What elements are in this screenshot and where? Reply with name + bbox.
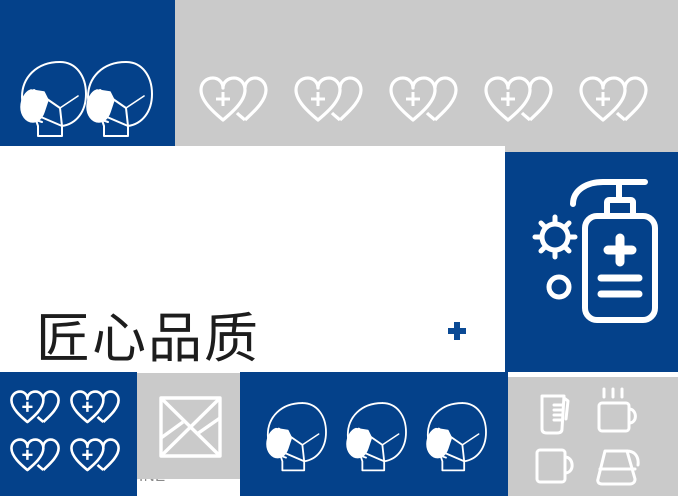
left-edge-accent: [0, 372, 6, 496]
masked-face-icon: [420, 394, 492, 474]
crossed-box-icon: [159, 396, 222, 458]
double-heart-plus-icon: [484, 76, 564, 128]
plus-icon: [448, 322, 466, 340]
double-heart-plus-icon: [389, 76, 469, 128]
bottom-right-lab-panel: [508, 377, 678, 496]
kettle-icon: [593, 443, 645, 487]
double-heart-plus-icon: [199, 76, 279, 128]
top-left-blue-panel: [0, 0, 175, 146]
double-heart-plus-icon: [70, 438, 128, 476]
sanitizer-blue-panel: [505, 152, 678, 372]
bottom-right-edge-accent: [500, 372, 508, 496]
bottom-left-hearts-panel: [0, 372, 137, 496]
sanitizer-bottle-icon: [567, 176, 667, 328]
double-heart-plus-icon: [579, 76, 659, 128]
beaker-icon: [534, 393, 574, 435]
masked-face-icon: [260, 394, 332, 474]
top-gray-band: [175, 0, 678, 152]
headline-card: 匠心品质 助推疫苗 INGENUITY QUALITY BOOST VACCIN…: [0, 146, 505, 372]
mug-icon: [534, 447, 580, 485]
masked-face-icon: [80, 52, 158, 140]
bottom-masks-panel: [240, 372, 508, 496]
steaming-cup-icon: [594, 387, 642, 435]
double-heart-plus-icon: [294, 76, 374, 128]
double-heart-plus-icon: [70, 390, 128, 428]
bottom-gray-square: [137, 373, 240, 479]
double-heart-plus-icon: [10, 390, 68, 428]
headline-line-1: 匠心品质: [36, 308, 456, 370]
poster-canvas: 匠心品质 助推疫苗 INGENUITY QUALITY BOOST VACCIN…: [0, 0, 678, 496]
masked-face-icon: [340, 394, 412, 474]
double-heart-plus-icon: [10, 438, 68, 476]
